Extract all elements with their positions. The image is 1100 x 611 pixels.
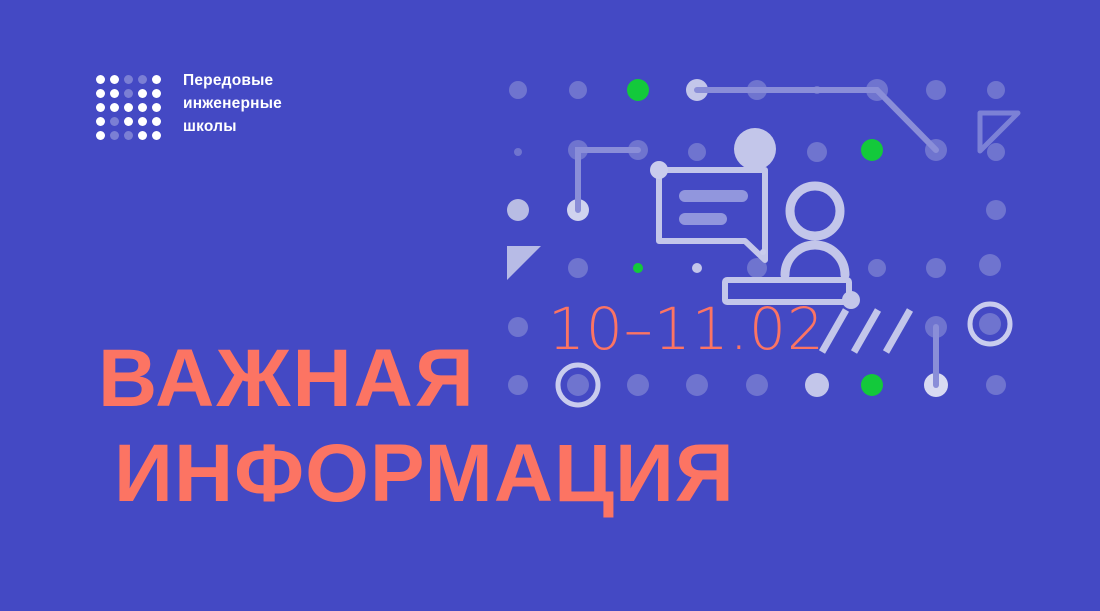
page-title: ВАЖНАЯ ИНФОРМАЦИЯ (98, 338, 735, 514)
logo-text: Передовые инженерные школы (183, 70, 282, 139)
filled-triangle-icon (507, 246, 541, 280)
speech-bubble-icon (650, 161, 766, 260)
green-dot (861, 374, 883, 396)
bubble-anchor-dot (650, 161, 668, 179)
person-avatar-icon (785, 186, 845, 275)
slashes-decoration (822, 310, 910, 352)
logo-dot-grid-icon (96, 75, 161, 140)
green-dot (627, 79, 649, 101)
outline-triangle-icon (980, 113, 1018, 151)
green-dot (633, 263, 643, 273)
green-dot (861, 139, 883, 161)
banner-root: 10–11.02 Передовые инженерные школы ВАЖН… (0, 0, 1100, 611)
logo[interactable]: Передовые инженерные школы (96, 70, 282, 140)
headline-line-1: ВАЖНАЯ (98, 338, 735, 419)
headline-line-2: ИНФОРМАЦИЯ (114, 433, 735, 514)
bubble-line-1 (679, 190, 748, 202)
bubble-line-2 (679, 213, 727, 225)
text-bar-anchor-dot (842, 291, 860, 309)
